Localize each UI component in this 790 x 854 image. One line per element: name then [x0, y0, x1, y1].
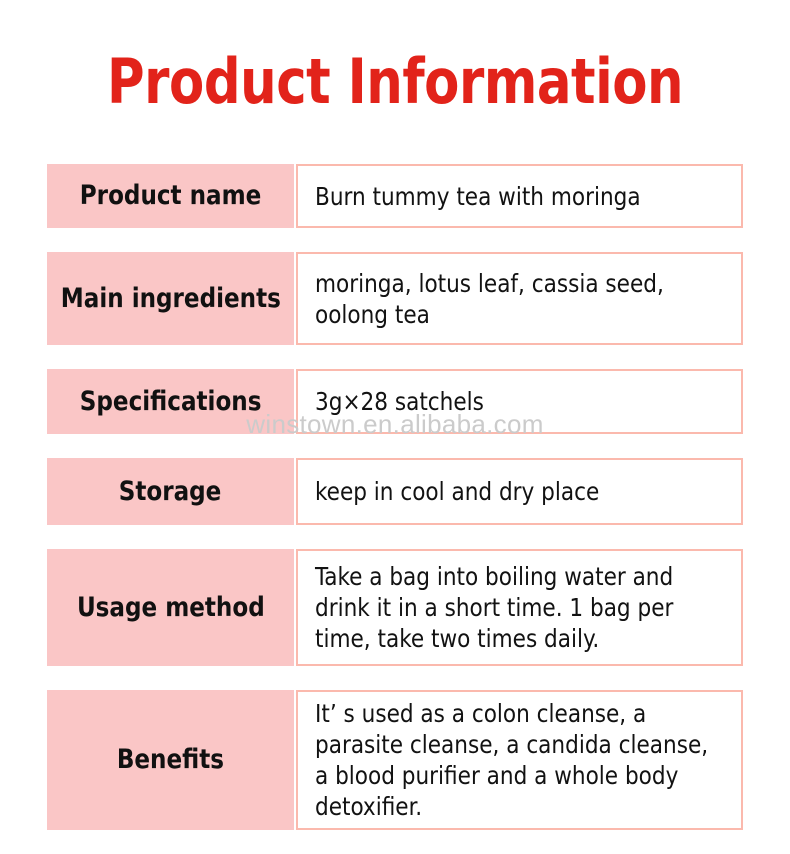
spec-label-text: Main ingredients [60, 283, 280, 315]
table-row: Specifications 3g×28 satchels [47, 369, 743, 434]
spec-label-cell: Product name [47, 164, 294, 228]
spec-label-cell: Usage method [47, 549, 294, 666]
spec-value-cell: moringa, lotus leaf, cassia seed, oolong… [296, 252, 743, 345]
page-title: Product Information [107, 47, 683, 117]
spec-value-cell: Take a bag into boiling water and drink … [296, 549, 743, 666]
page-title-container: Product Information [0, 47, 790, 117]
spec-label-text: Usage method [77, 592, 265, 624]
table-row: Product name Burn tummy tea with moringa [47, 164, 743, 228]
spec-value-text: It’ s used as a colon cleanse, a parasit… [315, 698, 711, 822]
table-row: Main ingredients moringa, lotus leaf, ca… [47, 252, 743, 345]
spec-label-cell: Main ingredients [47, 252, 294, 345]
spec-label-cell: Specifications [47, 369, 294, 434]
product-spec-table: Product name Burn tummy tea with moringa… [47, 164, 743, 854]
spec-value-cell: keep in cool and dry place [296, 458, 743, 525]
spec-label-text: Product name [80, 180, 262, 212]
spec-value-text: 3g×28 satchels [315, 386, 484, 417]
spec-label-cell: Benefits [47, 690, 294, 830]
table-row: Benefits It’ s used as a colon cleanse, … [47, 690, 743, 830]
spec-label-text: Storage [119, 476, 222, 508]
spec-value-text: Take a bag into boiling water and drink … [315, 561, 711, 654]
spec-label-cell: Storage [47, 458, 294, 525]
spec-value-text: moringa, lotus leaf, cassia seed, oolong… [315, 268, 711, 330]
spec-label-text: Benefits [117, 744, 224, 776]
product-information-page: Product Information Product name Burn tu… [0, 0, 790, 848]
spec-value-cell: It’ s used as a colon cleanse, a parasit… [296, 690, 743, 830]
table-row: Usage method Take a bag into boiling wat… [47, 549, 743, 666]
spec-value-cell: 3g×28 satchels [296, 369, 743, 434]
spec-value-cell: Burn tummy tea with moringa [296, 164, 743, 228]
spec-value-text: Burn tummy tea with moringa [315, 181, 641, 212]
spec-value-text: keep in cool and dry place [315, 476, 599, 507]
spec-label-text: Specifications [80, 386, 262, 418]
table-row: Storage keep in cool and dry place [47, 458, 743, 525]
